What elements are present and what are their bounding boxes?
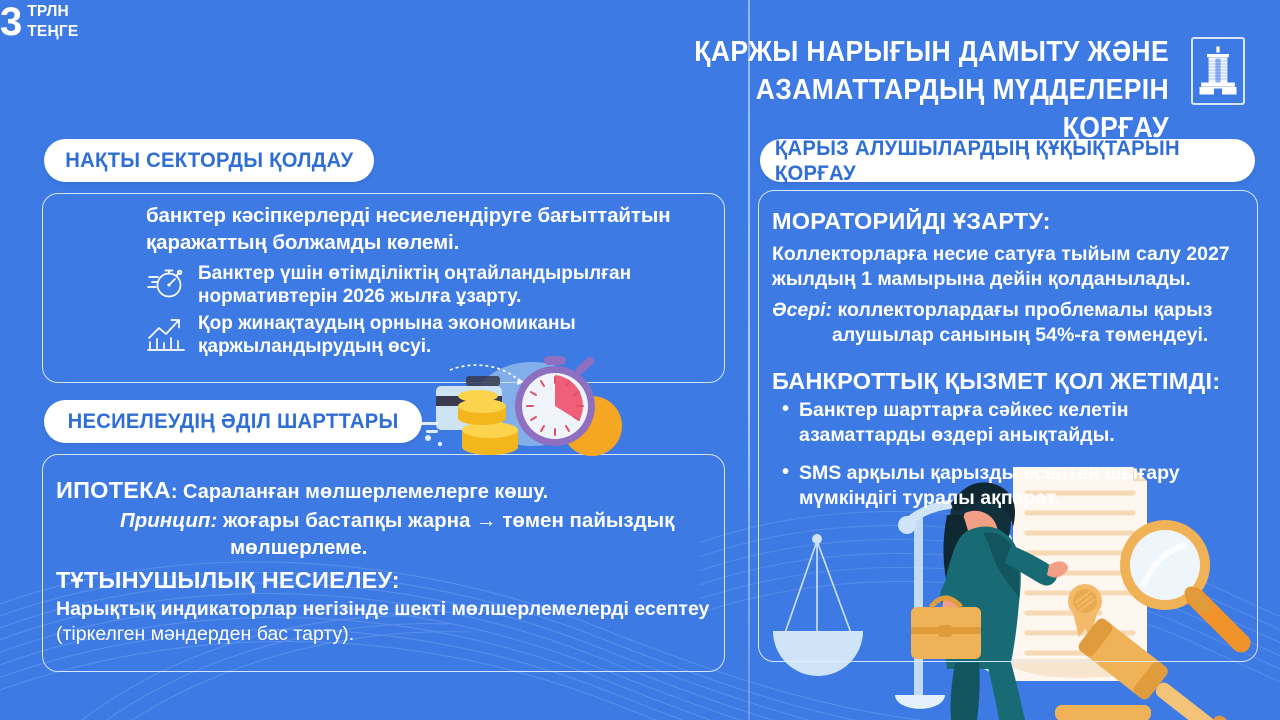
section-label-fair-lending-terms: НЕСИЕЛЕУДІҢ ӘДІЛ ШАРТТАРЫ [44, 400, 422, 443]
consumer-lending-text: Нарықтық индикаторлар негізінде шекті мө… [56, 597, 721, 648]
moratorium-text: Коллекторларға несие сатуға тыйым салу 2… [772, 242, 1242, 293]
pill-label-text: НАҚТЫ СЕКТОРДЫ ҚОЛДАУ [65, 148, 353, 173]
page-title: ҚАРЖЫ НАРЫҒЫН ДАМЫТУ ЖӘНЕ АЗАМАТТАРДЫҢ М… [658, 34, 1169, 148]
amount-unit-line-2: ТЕҢГЕ [27, 22, 78, 42]
principle-text-continued: мөлшерлеме. [120, 535, 720, 562]
mortgage-text: : Сараланған мөлшерлемелерге көшу. [171, 481, 548, 503]
list-item: SMS арқылы қарызды есептен шығару мүмкін… [782, 461, 1242, 511]
principle-text: жоғары бастапқы жарна → төмен пайыздық [217, 509, 674, 532]
principle-line: Принцип: жоғары бастапқы жарна → төмен п… [120, 508, 720, 561]
gavel-base [1055, 705, 1151, 720]
consumer-text-bold: Нарықтық индикаторлар негізінде шекті мө… [56, 598, 709, 620]
list-item-text: Банктер үшін өтімділіктің оңтайландырылғ… [198, 262, 721, 308]
mortgage-line: ИПОТЕКА: Сараланған мөлшерлемелерге көшу… [56, 477, 716, 504]
principle-keyword: Принцип: [120, 509, 217, 532]
mortgage-keyword: ИПОТЕКА [56, 477, 171, 503]
consumer-lending-heading: ТҰТЫНУШЫЛЫҚ НЕСИЕЛЕУ: [56, 567, 400, 594]
list-item-text: Қор жинақтаудың орнына экономиканы қаржы… [198, 312, 721, 358]
stopwatch-icon [146, 262, 186, 302]
effect-keyword: Әсері: [772, 299, 832, 321]
moratorium-heading: МОРАТОРИЙДІ ҰЗАРТУ: [772, 208, 1051, 235]
government-building-icon [1191, 37, 1245, 105]
page-title-line-1: ҚАРЖЫ НАРЫҒЫН ДАМЫТУ ЖӘНЕ [658, 34, 1169, 72]
moratorium-effect: Әсері: коллекторлардағы проблемалы қарыз… [772, 298, 1242, 349]
section-label-borrower-rights-protection: ҚАРЫЗ АЛУШЫЛАРДЫҢ ҚҰҚЫҚТАРЫН ҚОРҒАУ [760, 139, 1255, 182]
amount-unit: ТРЛН ТЕҢГЕ [27, 0, 78, 42]
list-item: Банктер шарттарға сәйкес келетін азаматт… [782, 398, 1242, 448]
amount-value: 3 [0, 0, 22, 44]
consumer-text-light: (тіркелген мәндерден бас тарту). [56, 623, 354, 645]
bankruptcy-heading: БАНКРОТТЫҚ ҚЫЗМЕТ ҚОЛ ЖЕТІМДІ: [772, 368, 1220, 395]
section-label-real-sector-support: НАҚТЫ СЕКТОРДЫ ҚОЛДАУ [44, 139, 374, 182]
list-item-economy-financing: Қор жинақтаудың орнына экономиканы қаржы… [146, 312, 721, 358]
government-building-glyph [1198, 45, 1238, 97]
effect-text: коллекторлардағы проблемалы қарыз [832, 299, 1212, 321]
bankruptcy-list: Банктер шарттарға сәйкес келетін азаматт… [782, 398, 1242, 524]
amount-unit-line-1: ТРЛН [27, 2, 78, 22]
pill-label-text: НЕСИЕЛЕУДІҢ ӘДІЛ ШАРТТАРЫ [67, 409, 398, 434]
page-header: ҚАРЖЫ НАРЫҒЫН ДАМЫТУ ЖӘНЕ АЗАМАТТАРДЫҢ М… [620, 34, 1245, 148]
list-item-liquidity-norms: Банктер үшін өтімділіктің оңтайландырылғ… [146, 262, 721, 308]
infographic-canvas: ҚАРЖЫ НАРЫҒЫН ДАМЫТУ ЖӘНЕ АЗАМАТТАРДЫҢ М… [0, 0, 1280, 720]
effect-text-continued: алушылар санының 54%-ға төмендеуі. [772, 323, 1242, 348]
amount-description: банктер кәсіпкерлерді несиелендіруге бағ… [146, 203, 722, 256]
pill-label-text: ҚАРЫЗ АЛУШЫЛАРДЫҢ ҚҰҚЫҚТАРЫН ҚОРҒАУ [775, 136, 1240, 186]
growth-chart-icon [146, 312, 186, 352]
